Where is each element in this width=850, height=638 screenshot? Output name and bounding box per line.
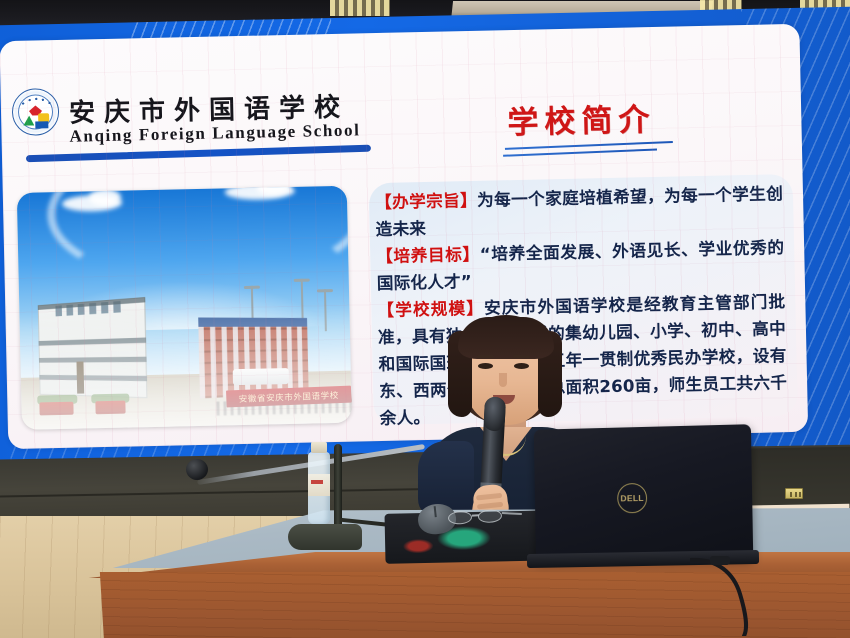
microphone-head-icon	[186, 459, 208, 480]
slide: 安庆市外国语学校 Anqing Foreign Language School …	[0, 24, 808, 449]
laptop-cable	[690, 556, 810, 636]
slide-title: 学校简介	[507, 94, 656, 142]
dell-logo-icon: DELL	[617, 483, 647, 513]
header-divider	[26, 145, 371, 163]
ceiling-light-icon	[330, 0, 390, 16]
desk-microphone-stem	[334, 444, 342, 528]
water-bottle[interactable]	[308, 452, 330, 524]
campus-photo: 安徽省安庆市外国语学校	[17, 186, 352, 430]
school-crest-icon	[12, 88, 60, 136]
laptop[interactable]: DELL	[534, 424, 753, 560]
power-outlet-icon	[785, 488, 803, 499]
slide-paragraph: 【培养目标】“培养全面发展、外语见长、学业优秀的国际化人才”	[376, 234, 785, 297]
slide-paragraph: 【办学宗旨】为每一个家庭培植希望，为每一个学生创造未来	[375, 180, 784, 243]
presentation-room-scene: 安庆市外国语学校 Anqing Foreign Language School …	[0, 0, 850, 638]
slide-paragraph-tag: 【办学宗旨】	[375, 191, 477, 212]
slide-header: 安庆市外国语学校 Anqing Foreign Language School …	[0, 24, 802, 167]
laptop-brand-label: DELL	[620, 493, 643, 503]
title-underline	[503, 148, 657, 156]
desk-microphone-base[interactable]	[288, 524, 362, 550]
slide-paragraph-tag: 【培养目标】	[376, 245, 480, 266]
